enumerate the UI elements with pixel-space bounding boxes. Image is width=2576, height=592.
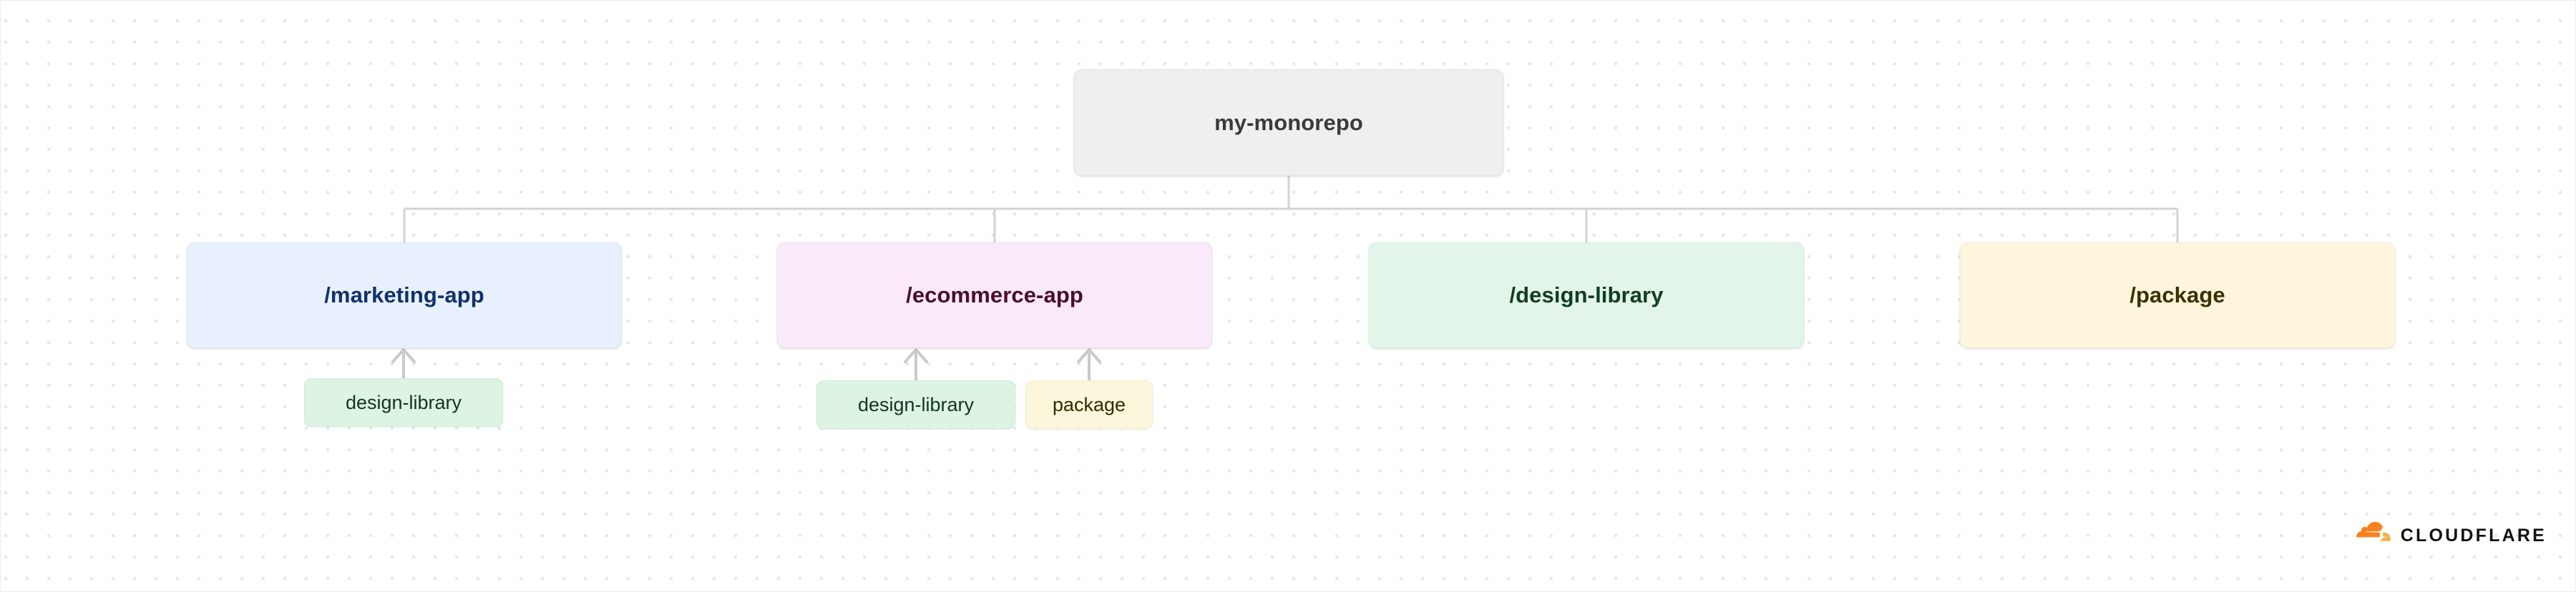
node-marketing-app[interactable]: /marketing-app: [187, 242, 622, 348]
node-design-library[interactable]: /design-library: [1369, 242, 1804, 348]
dependency-pill-label: package: [1053, 394, 1126, 416]
node-my-monorepo[interactable]: my-monorepo: [1074, 69, 1503, 176]
node-label: /package: [2129, 282, 2225, 308]
node-ecommerce-app[interactable]: /ecommerce-app: [777, 242, 1212, 348]
node-label: my-monorepo: [1214, 110, 1363, 136]
node-package[interactable]: /package: [1960, 242, 2395, 348]
node-label: /marketing-app: [324, 282, 484, 308]
dependency-pill-ecommerce-design-library[interactable]: design-library: [816, 380, 1015, 429]
diagram-canvas: my-monorepo /marketing-app /ecommerce-ap…: [0, 0, 2576, 592]
cloudflare-wordmark: CLOUDFLARE: [2401, 526, 2547, 546]
dependency-pill-label: design-library: [858, 394, 974, 416]
cloudflare-cloud-icon: [2346, 522, 2391, 550]
node-label: /design-library: [1509, 282, 1663, 308]
dependency-pill-ecommerce-package[interactable]: package: [1025, 380, 1153, 429]
cloudflare-logo: CLOUDFLARE: [2346, 522, 2547, 550]
dependency-pill-label: design-library: [346, 392, 462, 414]
node-label: /ecommerce-app: [906, 282, 1083, 308]
dependency-pill-marketing-design-library[interactable]: design-library: [304, 378, 503, 427]
